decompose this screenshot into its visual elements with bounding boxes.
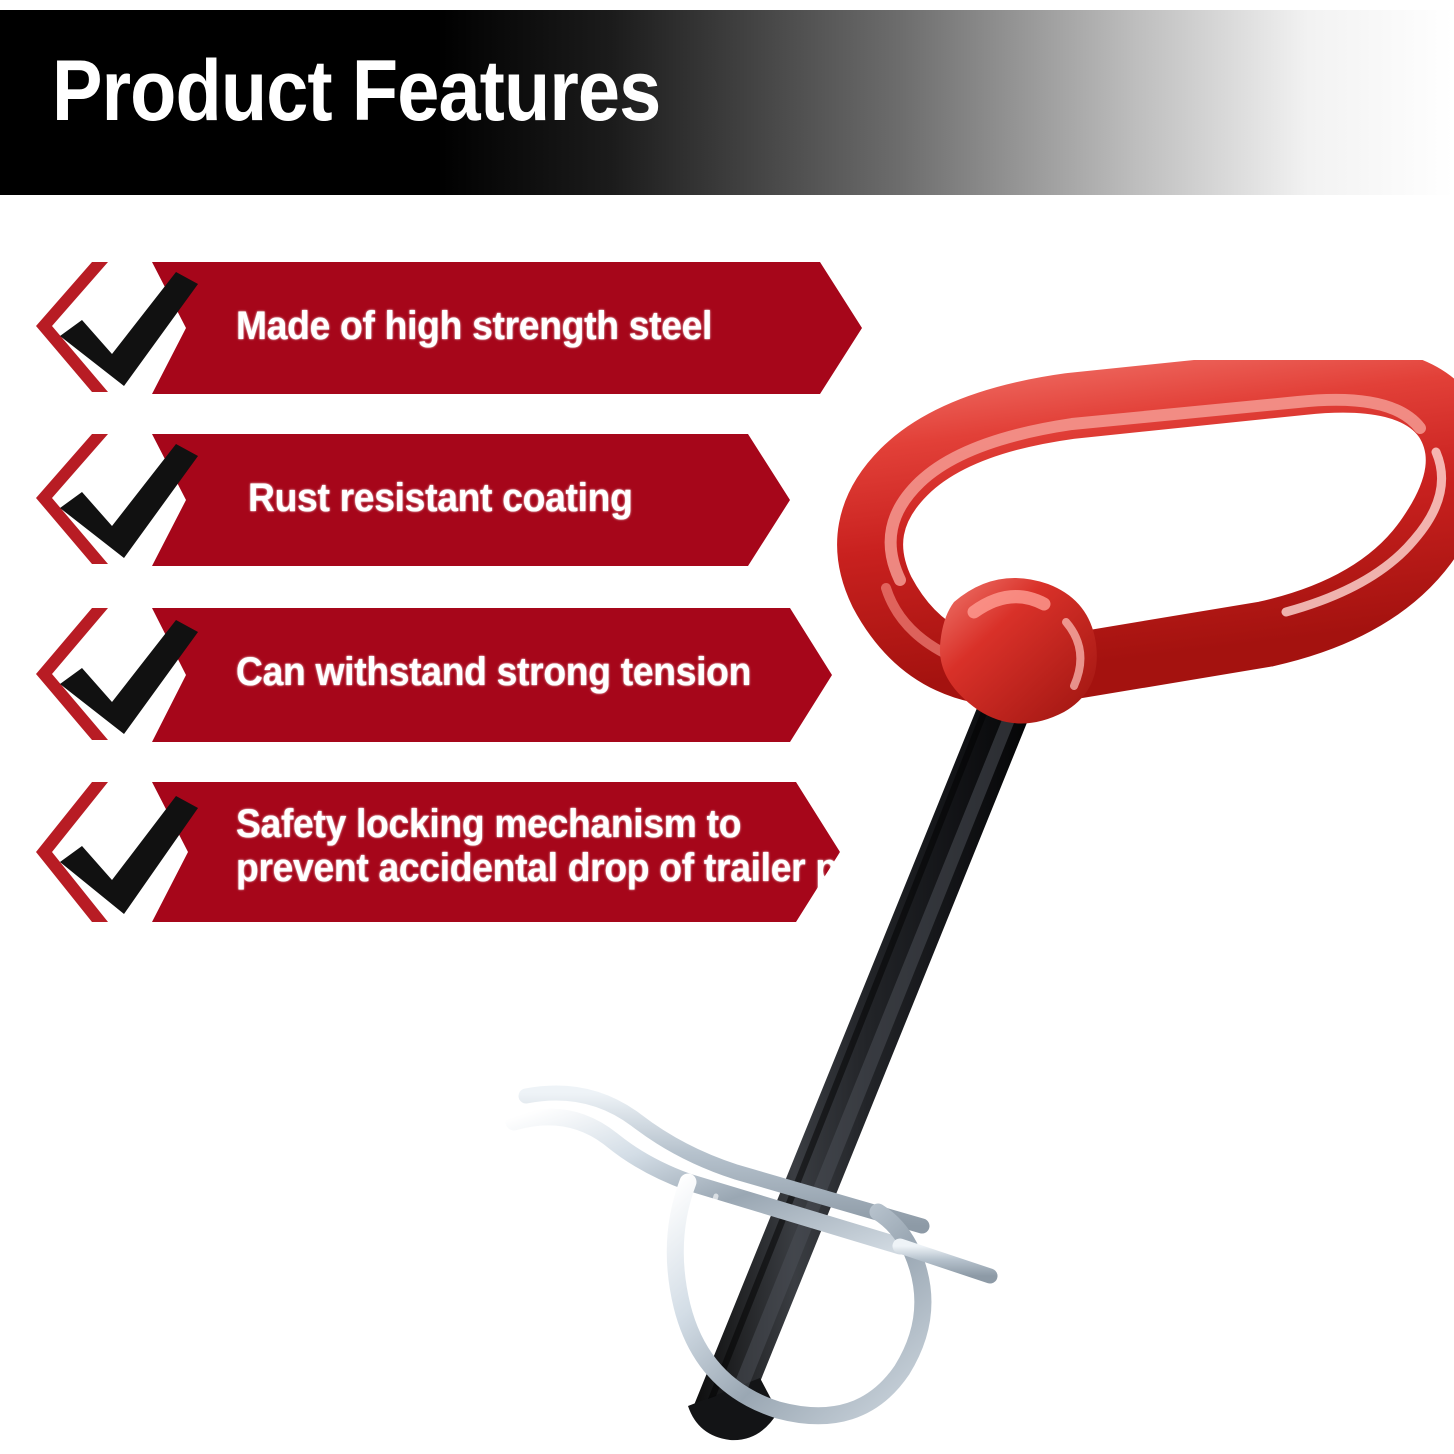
chevron-icon (36, 782, 108, 922)
chevron-icon (36, 434, 108, 564)
feature-label: Made of high strength steel (236, 304, 712, 348)
chevron-icon (36, 608, 108, 740)
product-features-infographic: Product Features Made of high strength s… (0, 0, 1454, 1454)
page-title: Product Features (52, 48, 660, 134)
product-image-trailer-hitch-pin (430, 360, 1454, 1450)
chevron-icon (36, 262, 108, 392)
pin-shaft (688, 646, 1058, 1440)
weld-boss (940, 578, 1097, 724)
